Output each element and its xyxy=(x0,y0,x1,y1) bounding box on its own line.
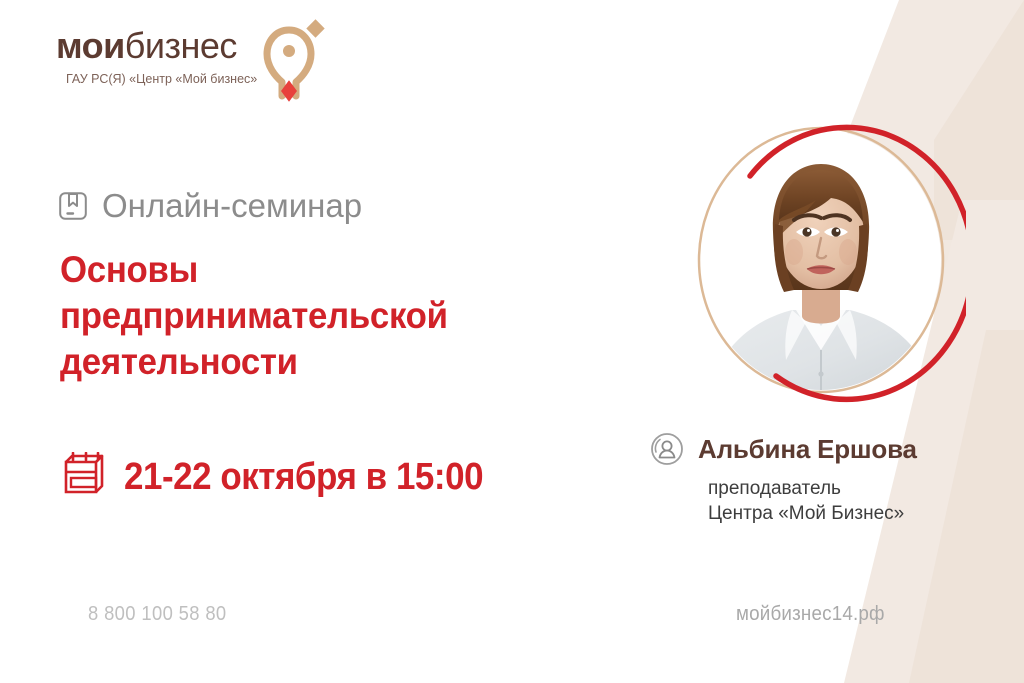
speaker-role-line-2: Центра «Мой Бизнес» xyxy=(708,501,990,526)
speaker-role-line-1: преподаватель xyxy=(708,476,990,501)
speaker-name-row: Альбина Ершова xyxy=(650,432,990,466)
logo-wordmark: моибизнес xyxy=(56,26,237,66)
speaker-portrait xyxy=(676,112,966,408)
logo: моибизнес ГАУ РС(Я) «Центр «Мой бизнес» xyxy=(56,24,316,108)
speaker-info: Альбина Ершова преподаватель Центра «Мой… xyxy=(650,432,990,526)
person-circle-icon xyxy=(650,432,684,466)
event-title: Основы предпринимательской деятельности xyxy=(60,247,502,385)
event-title-line-1: Основы xyxy=(60,247,502,293)
event-date-row: 21-22 октября в 15:00 xyxy=(58,452,514,502)
calendar-icon xyxy=(58,452,104,502)
speaker-name: Альбина Ершова xyxy=(698,434,917,464)
speaker-role: преподаватель Центра «Мой Бизнес» xyxy=(708,476,990,526)
event-title-line-2: предпринимательской xyxy=(60,293,502,339)
kicker: Онлайн-семинар xyxy=(58,188,362,224)
logo-tagline: ГАУ РС(Я) «Центр «Мой бизнес» xyxy=(66,71,257,87)
package-bookmark-icon xyxy=(58,191,88,221)
promo-banner: моибизнес ГАУ РС(Я) «Центр «Мой бизнес» … xyxy=(0,0,1024,683)
rocket-icon xyxy=(261,16,325,108)
logo-word-light: бизнес xyxy=(125,25,237,66)
logo-word-bold: мои xyxy=(56,25,125,66)
kicker-label: Онлайн-семинар xyxy=(102,188,362,224)
phone-number[interactable]: 8 800 100 58 80 xyxy=(88,601,227,627)
website-url[interactable]: мойбизнес14.рф xyxy=(736,601,885,627)
portrait-photo xyxy=(676,112,966,408)
event-date: 21-22 октября в 15:00 xyxy=(124,455,483,499)
event-title-line-3: деятельности xyxy=(60,339,502,385)
